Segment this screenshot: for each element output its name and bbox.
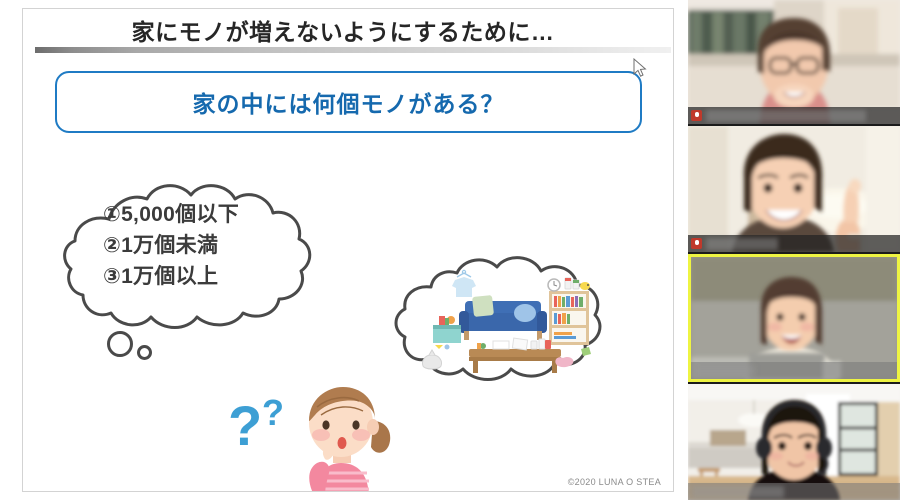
answer-choices-list: ①5,000個以下 ②1万個未満 ③1万個以上 <box>103 199 333 292</box>
thought-bubble-trail-2 <box>137 345 152 360</box>
answer-choice-2: ②1万個未満 <box>103 230 333 261</box>
coffee-table-icon <box>469 338 561 373</box>
room-thought-bubble <box>391 241 631 391</box>
participant-tile[interactable] <box>688 126 900 252</box>
trash-bag-icon <box>422 350 441 369</box>
shared-screen-area[interactable]: 家にモノが増えないようにするために… 家の中には何個モノがある？ ①5,000個… <box>0 0 688 500</box>
video-feed <box>688 126 900 252</box>
thought-bubble-trail-1 <box>107 331 133 357</box>
participant-tile[interactable] <box>688 384 900 500</box>
video-feed <box>688 384 900 500</box>
mute-icon <box>691 238 702 249</box>
participant-tile-active-speaker[interactable] <box>688 254 900 382</box>
name-redaction <box>706 238 778 250</box>
video-scene-woman-pointing-up <box>688 126 900 252</box>
name-redaction <box>695 365 755 377</box>
video-feed <box>688 0 900 124</box>
svg-text:?: ? <box>228 394 262 457</box>
title-divider <box>35 47 671 53</box>
video-conference-screen: 家にモノが増えないようにするために… 家の中には何個モノがある？ ①5,000個… <box>0 0 900 500</box>
blue-sofa-icon <box>459 295 547 340</box>
answer-choice-1: ①5,000個以下 <box>103 199 333 230</box>
name-redaction <box>692 486 784 498</box>
slide-title: 家にモノが増えないようにするために… <box>23 13 663 47</box>
bookshelf-icon <box>548 278 590 345</box>
question-banner: 家の中には何個モノがある？ <box>55 71 642 133</box>
video-feed <box>691 257 897 379</box>
presentation-slide: 家にモノが増えないようにするために… 家の中には何個モノがある？ ①5,000個… <box>22 8 674 492</box>
question-banner-text: 家の中には何個モノがある？ <box>57 73 640 131</box>
participant-tile[interactable] <box>688 0 900 124</box>
thinking-girl-illustration <box>281 377 401 492</box>
hanging-shirt-icon <box>452 270 476 297</box>
name-redaction <box>706 110 866 122</box>
mute-icon <box>691 110 702 121</box>
copyright-notice: ©2020 LUNA O STEA <box>568 477 661 487</box>
answer-thought-bubble: ①5,000個以下 ②1万個未満 ③1万個以上 <box>61 157 361 347</box>
participant-filmstrip[interactable] <box>688 0 900 500</box>
video-scene-woman-with-glasses <box>688 0 900 124</box>
toy-box-icon <box>433 316 461 350</box>
answer-choice-3: ③1万個以上 <box>103 261 333 292</box>
cluttered-living-room-illustration <box>417 263 607 373</box>
video-scene-woman-at-laptop <box>691 257 897 379</box>
